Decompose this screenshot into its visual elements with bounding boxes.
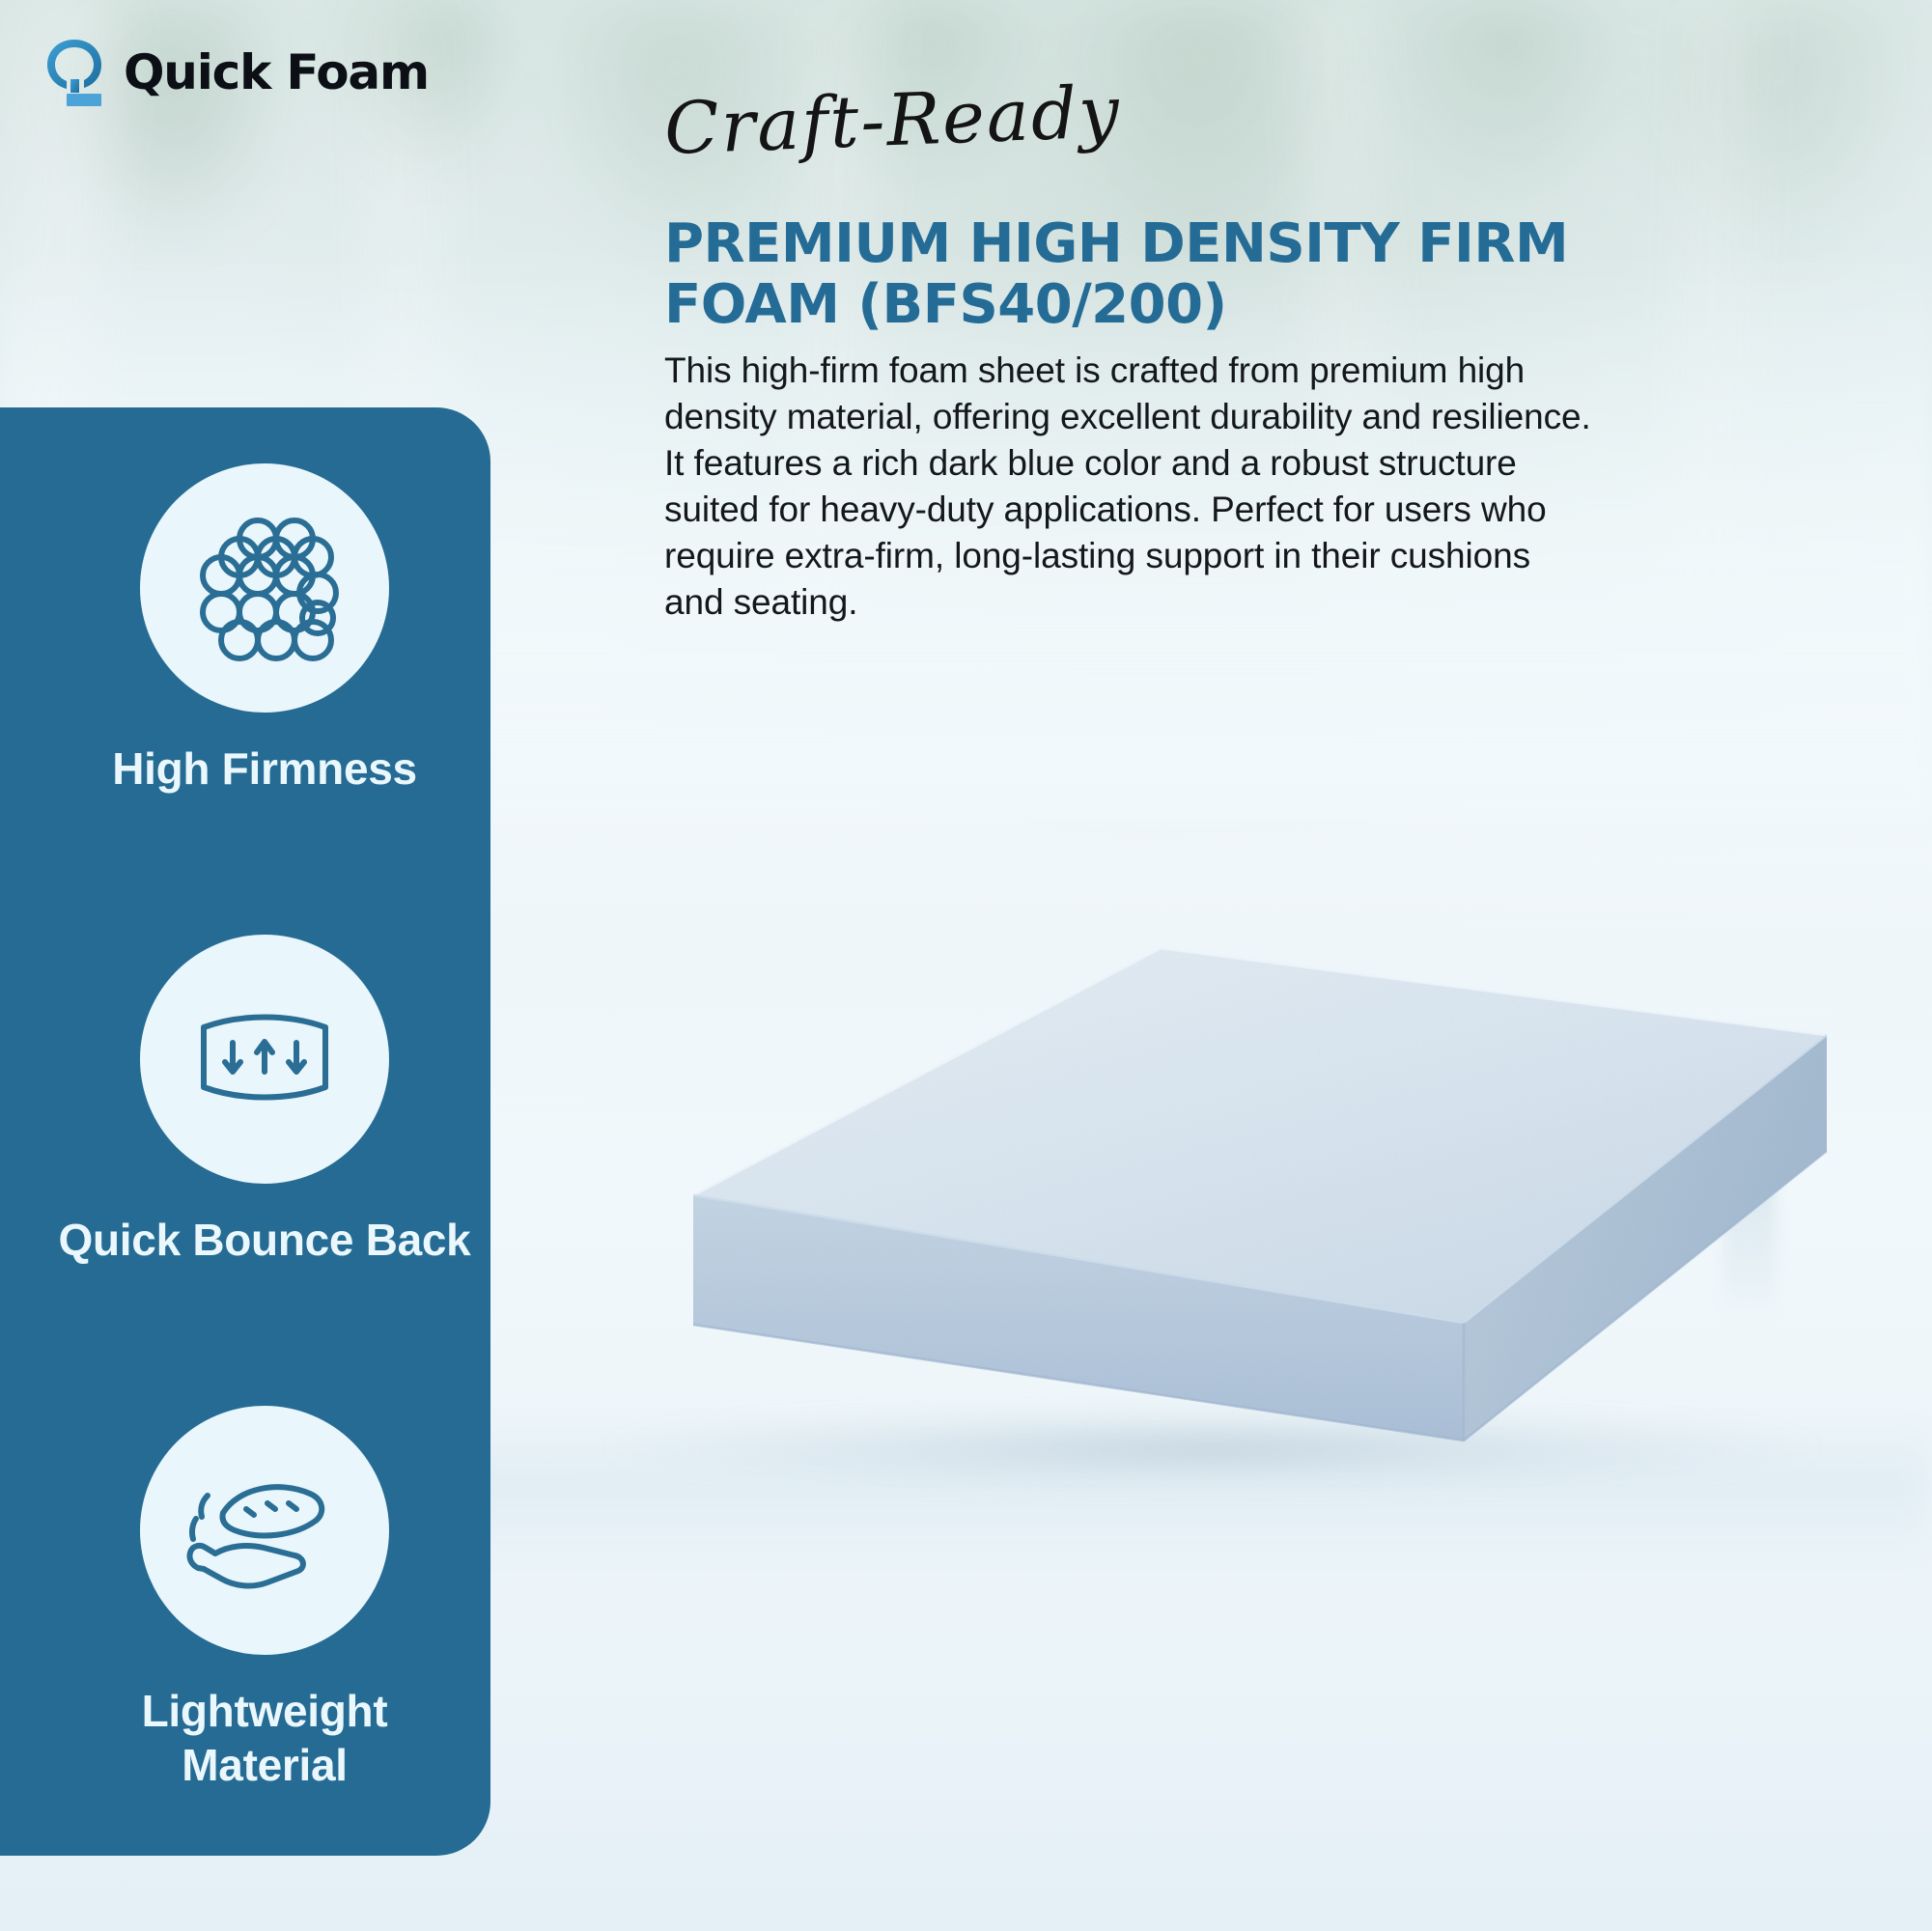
- feature-item-quick-bounce-back: Quick Bounce Back: [0, 935, 490, 1267]
- foam-cell-cluster-icon: [140, 463, 389, 713]
- feature-item-high-firmness: High Firmness: [0, 463, 490, 796]
- hand-holding-foam-icon: [140, 1406, 389, 1655]
- script-eyebrow: Craft-Ready: [663, 76, 1123, 165]
- product-description: This high-firm foam sheet is crafted fro…: [664, 348, 1591, 627]
- feature-item-lightweight-material: Lightweight Material: [0, 1406, 490, 1792]
- foam-block: [579, 946, 1834, 1448]
- compression-rebound-arrows-icon: [140, 935, 389, 1184]
- feature-label: High Firmness: [57, 742, 472, 796]
- page-title: PREMIUM HIGH DENSITY FIRM FOAM (BFS40/20…: [664, 214, 1591, 335]
- feature-sidebar: High Firmness Quick Bounce Back: [0, 407, 490, 1856]
- brand-name: Quick Foam: [124, 48, 429, 97]
- brand-logo: Quick Foam: [44, 37, 429, 108]
- feature-label: Lightweight Material: [57, 1684, 472, 1792]
- infographic-canvas: Quick Foam Craft-Ready PREMIUM HIGH DENS…: [0, 0, 1932, 1931]
- feature-label: Quick Bounce Back: [57, 1213, 472, 1267]
- quick-foam-q-logo-icon: [44, 37, 110, 108]
- title-line-1: PREMIUM HIGH DENSITY FIRM: [664, 212, 1568, 275]
- title-line-2: FOAM (BFS40/200): [664, 273, 1227, 336]
